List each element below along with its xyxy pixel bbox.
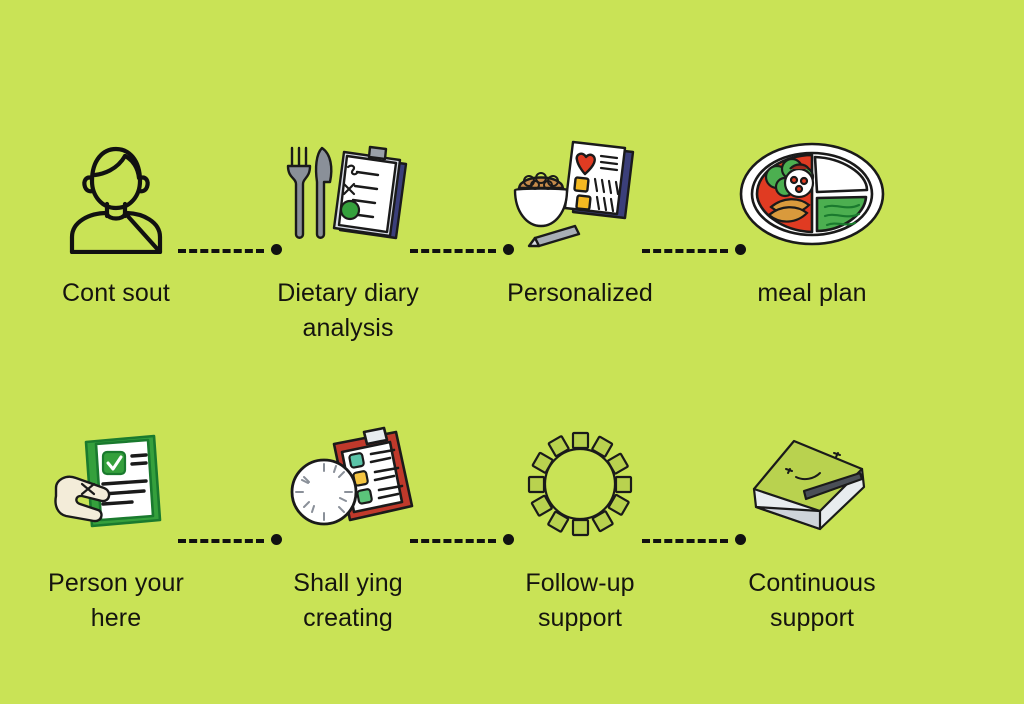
food-bowl-report-icon [505, 130, 655, 258]
flow-step-label: Personalized [473, 276, 688, 311]
flow-step-shall-ying-creating[interactable]: Shall yingcreating [232, 420, 464, 636]
flow-step-label: Continuoussupport [705, 566, 920, 636]
hand-document-check-icon [41, 420, 191, 548]
flow-step-cont-sout[interactable]: Cont sout [0, 130, 232, 346]
flow-step-label: Dietary diaryanalysis [241, 276, 456, 346]
flow-step-personalized[interactable]: Personalized [464, 130, 696, 346]
person-avatar-icon [41, 130, 191, 258]
flow-step-label: Shall yingcreating [241, 566, 456, 636]
flow-step-label: Cont sout [9, 276, 224, 311]
flow-row-top: Cont sout [0, 130, 1024, 346]
clipboard-cutlery-icon [273, 130, 423, 258]
flow-step-label: Person yourhere [9, 566, 224, 636]
flow-row-bottom: Person yourhere [0, 420, 1024, 636]
flow-step-dietary-diary-analysis[interactable]: Dietary diaryanalysis [232, 130, 464, 346]
flow-step-person-your-here[interactable]: Person yourhere [0, 420, 232, 636]
flow-diagram-canvas: Cont sout [0, 0, 1024, 704]
flow-step-label: Follow-upsupport [473, 566, 688, 636]
closed-box-icon [737, 420, 887, 548]
flow-step-follow-up-support[interactable]: Follow-upsupport [464, 420, 696, 636]
circle-of-squares-icon [505, 420, 655, 548]
flow-step-label: meal plan [705, 276, 920, 311]
flow-step-continuous-support[interactable]: Continuoussupport [696, 420, 928, 636]
flow-step-meal-plan[interactable]: meal plan [696, 130, 928, 346]
divided-plate-icon [737, 130, 887, 258]
clock-clipboard-icon [273, 420, 423, 548]
